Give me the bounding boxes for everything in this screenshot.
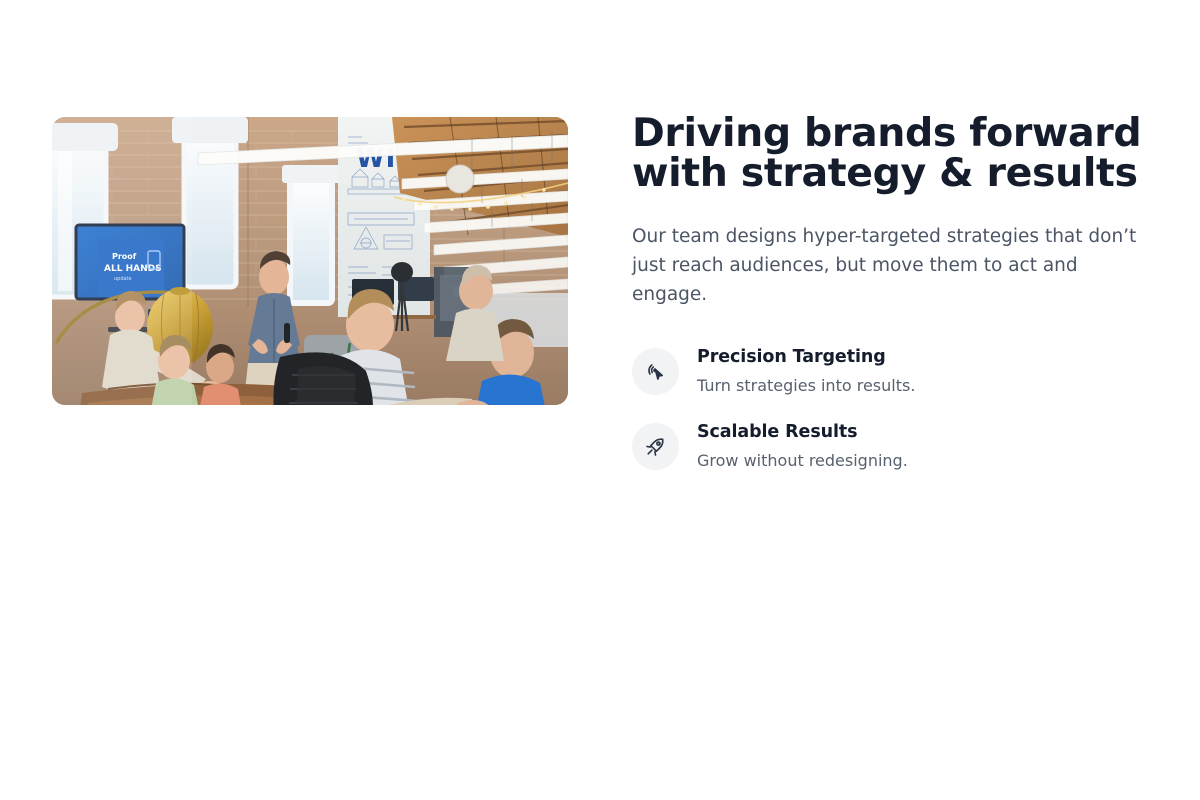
- feature-text: Precision Targeting Turn strategies into…: [697, 345, 915, 396]
- feature-description: Turn strategies into results.: [697, 369, 915, 396]
- hero-subtitle: Our team designs hyper-targeted strategi…: [632, 193, 1147, 309]
- feature-item-scalable-results: Scalable Results Grow without redesignin…: [632, 420, 1152, 471]
- feature-item-precision-targeting: Precision Targeting Turn strategies into…: [632, 345, 1152, 396]
- rocket-launch-icon: [632, 423, 679, 470]
- cursor-click-icon: [632, 348, 679, 395]
- page-title: Driving brands forward with strategy & r…: [632, 113, 1152, 193]
- feature-title: Precision Targeting: [697, 346, 915, 369]
- feature-title: Scalable Results: [697, 421, 908, 444]
- hero-copy-column: Driving brands forward with strategy & r…: [632, 113, 1152, 471]
- feature-list: Precision Targeting Turn strategies into…: [632, 309, 1152, 471]
- feature-text: Scalable Results Grow without redesignin…: [697, 420, 908, 471]
- hero-image: WIN: [52, 117, 568, 405]
- feature-description: Grow without redesigning.: [697, 444, 908, 471]
- hero-media-column: WIN: [52, 117, 568, 405]
- hero-section: WIN: [0, 0, 1200, 800]
